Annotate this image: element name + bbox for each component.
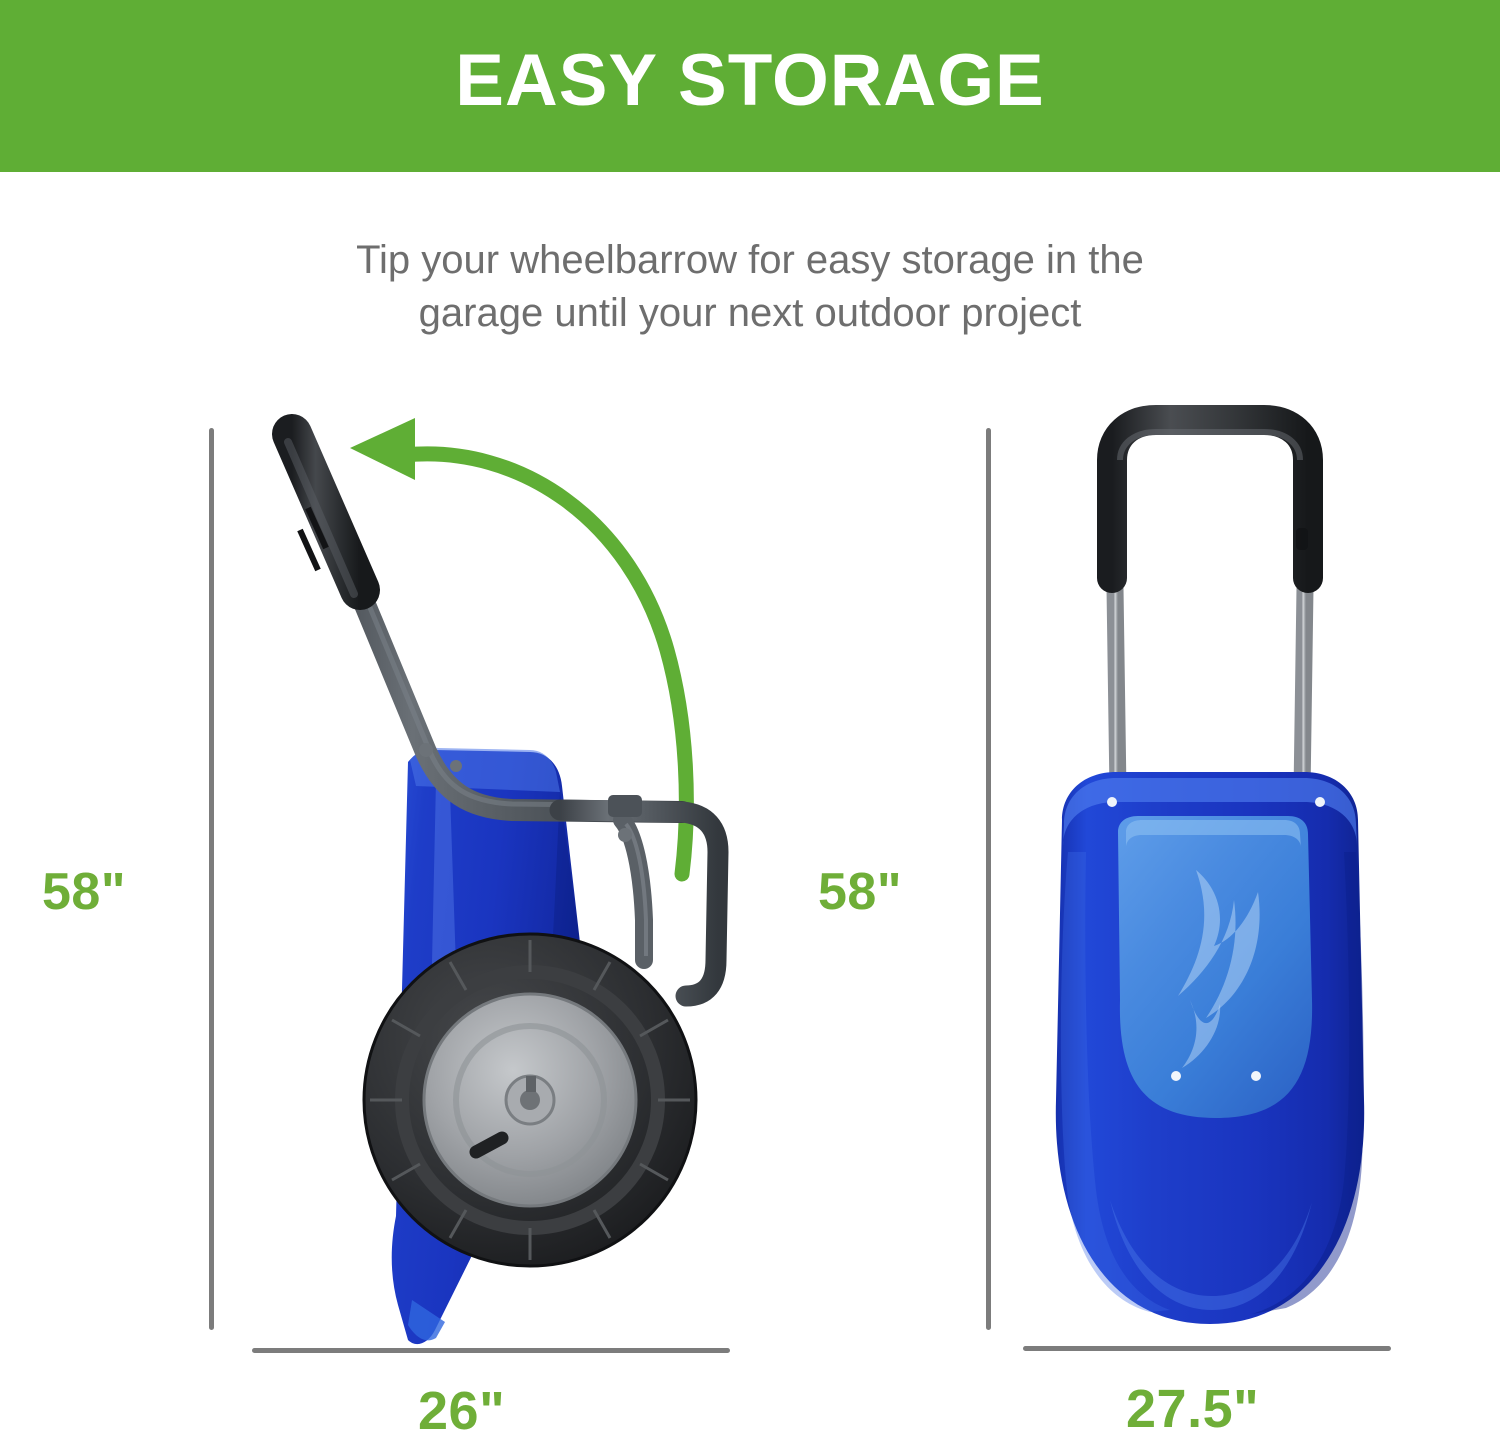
subtitle-line-2: garage until your next outdoor project (250, 287, 1250, 340)
page-title: EASY STORAGE (455, 44, 1044, 117)
left-product-illustration (230, 400, 750, 1350)
header-banner: EASY STORAGE (0, 0, 1500, 172)
handle-tubes (1114, 520, 1306, 792)
right-figure-panel: 58" 27.5" (760, 380, 1500, 1442)
blue-tray (1056, 772, 1364, 1324)
right-height-rule (986, 428, 991, 1330)
handle-grip (288, 434, 360, 594)
left-height-rule (209, 428, 214, 1330)
left-width-label: 26" (418, 1380, 505, 1442)
right-height-label: 58" (818, 862, 902, 922)
right-product-illustration (1000, 400, 1420, 1350)
right-width-label: 27.5" (1126, 1378, 1259, 1440)
left-figure-panel: 58" 26" (0, 380, 760, 1442)
tray-inner-panel (1118, 816, 1312, 1118)
subtitle-block: Tip your wheelbarrow for easy storage in… (250, 234, 1250, 340)
wheel (364, 934, 696, 1266)
handle-grip (1112, 420, 1308, 578)
subtitle-line-1: Tip your wheelbarrow for easy storage in… (250, 234, 1250, 287)
left-height-label: 58" (42, 862, 126, 922)
